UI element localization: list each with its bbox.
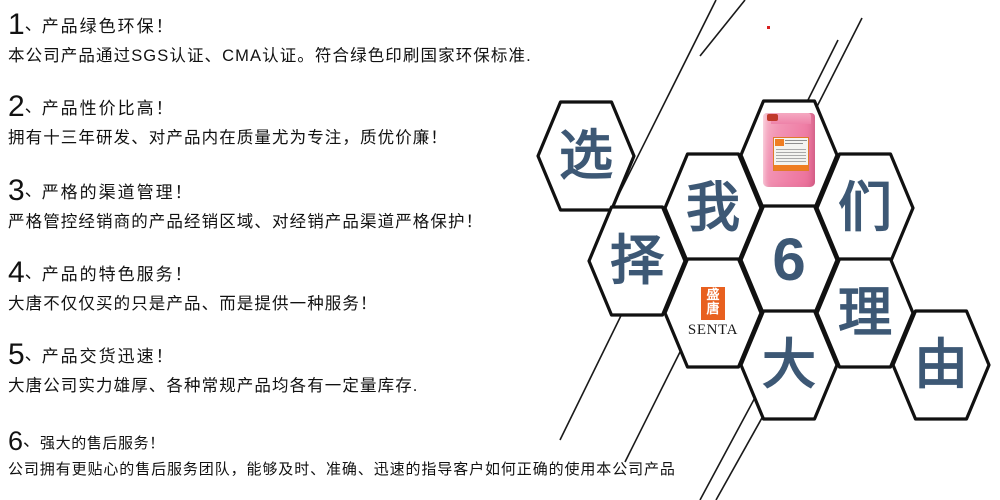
promo-banner: 1、产品绿色环保！ 本公司产品通过SGS认证、CMA认证。符合绿色印刷国家环保标… <box>0 0 1000 500</box>
reason-body: 公司拥有更贴心的售后服务团队，能够及时、准确、迅速的指导客户如何正确的使用本公司… <box>8 462 676 479</box>
reason-body: 大唐不仅仅买的只是产品、而是提供一种服务！ <box>8 295 378 313</box>
label-text-line <box>776 149 806 150</box>
red-dot-marker <box>767 26 770 29</box>
reason-separator: 、 <box>25 181 42 200</box>
reason-title: 严格的渠道管理！ <box>42 183 194 202</box>
label-logo-block <box>775 139 784 146</box>
reason-number: 4 <box>8 256 25 289</box>
reason-item: 1、产品绿色环保！ 本公司产品通过SGS认证、CMA认证。符合绿色印刷国家环保标… <box>8 10 532 65</box>
can-cap <box>767 114 778 121</box>
reason-title: 产品绿色环保！ <box>42 17 175 36</box>
reason-item: 4、产品的特色服务！ 大唐不仅仅买的只是产品、而是提供一种服务！ <box>8 258 378 313</box>
label-text-line <box>776 161 806 162</box>
reason-heading: 6、强大的售后服务！ <box>8 428 676 455</box>
reason-heading: 5、产品交货迅速！ <box>8 340 418 370</box>
reason-number: 5 <box>8 338 25 371</box>
reason-number: 6 <box>8 426 23 456</box>
reason-item: 5、产品交货迅速！ 大唐公司实力雄厚、各种常规产品均各有一定量库存. <box>8 340 418 395</box>
reason-separator: 、 <box>25 263 42 282</box>
reason-separator: 、 <box>23 431 40 450</box>
label-text-line <box>776 155 806 156</box>
reason-heading: 4、产品的特色服务！ <box>8 258 378 288</box>
reason-heading: 2、产品性价比高！ <box>8 92 448 122</box>
label-text-line <box>776 158 806 159</box>
logo-seal-mark: 盛 唐 <box>701 287 725 319</box>
hexagon-xuan[interactable]: 选 <box>535 100 637 212</box>
reason-body: 拥有十三年研发、对产品内在质量尤为专注，质优价廉！ <box>8 129 448 147</box>
label-text-line <box>785 143 803 144</box>
reason-body: 本公司产品通过SGS认证、CMA认证。符合绿色印刷国家环保标准. <box>8 47 532 65</box>
hexagon-you[interactable]: 由 <box>890 309 992 421</box>
reason-separator: 、 <box>25 345 42 364</box>
reason-item: 6、强大的售后服务！ 公司拥有更贴心的售后服务团队，能够及时、准确、迅速的指导客… <box>8 428 676 479</box>
hexagon-label: 选 <box>535 100 637 212</box>
hexagon-men[interactable]: 们 <box>814 152 916 264</box>
label-footer-bar <box>774 165 808 170</box>
reason-separator: 、 <box>25 97 42 116</box>
can-label <box>773 137 809 171</box>
logo-seal-top: 盛 <box>702 289 724 303</box>
reason-number: 1 <box>8 8 25 41</box>
reason-body: 严格管控经销商的产品经销区域、对经销产品渠道严格保护！ <box>8 213 483 231</box>
hexagon-label: 由 <box>890 309 992 421</box>
reason-title: 产品的特色服务！ <box>42 265 194 284</box>
label-text-line <box>785 140 807 141</box>
reason-body: 大唐公司实力雄厚、各种常规产品均各有一定量库存. <box>8 377 418 395</box>
hexagon-cluster: 选 择 我 盛 唐 SENTA <box>0 0 1000 500</box>
reason-heading: 1、产品绿色环保！ <box>8 10 532 40</box>
label-text-line <box>776 152 806 153</box>
reason-title: 产品性价比高！ <box>42 99 175 118</box>
reason-number: 2 <box>8 90 25 123</box>
reason-title: 产品交货迅速！ <box>42 347 175 366</box>
hexagon-label: 们 <box>814 152 916 264</box>
reason-heading: 3、严格的渠道管理！ <box>8 176 483 206</box>
reason-separator: 、 <box>25 15 42 34</box>
reason-title: 强大的售后服务！ <box>40 435 165 452</box>
reason-number: 3 <box>8 174 25 207</box>
product-photo <box>760 105 818 189</box>
reason-item: 3、严格的渠道管理！ 严格管控经销商的产品经销区域、对经销产品渠道严格保护！ <box>8 176 483 231</box>
logo-wordmark: SENTA <box>688 322 738 339</box>
product-jerry-can <box>763 113 815 187</box>
logo-seal-bottom: 唐 <box>702 303 724 317</box>
reason-item: 2、产品性价比高！ 拥有十三年研发、对产品内在质量尤为专注，质优价廉！ <box>8 92 448 147</box>
